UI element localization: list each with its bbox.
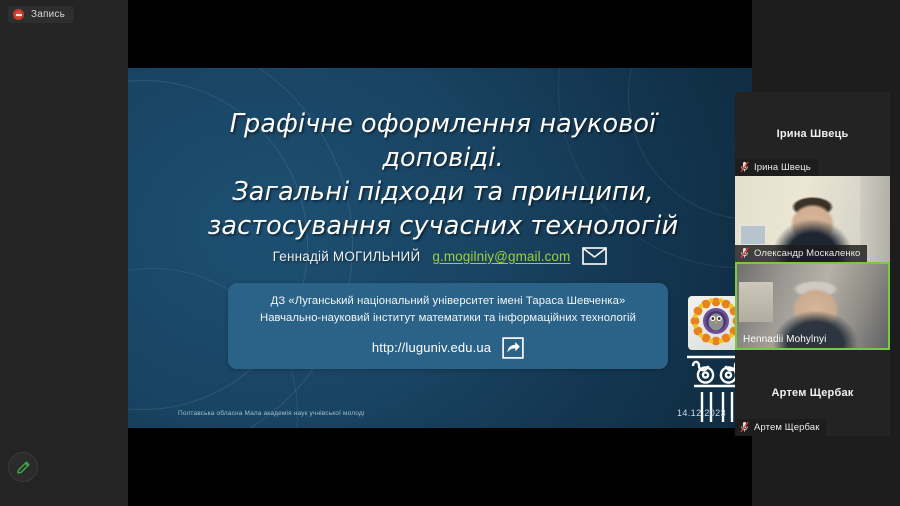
envelope-icon <box>582 247 607 265</box>
participant-tile-active-speaker[interactable]: Hennadii Mohylnyi <box>735 262 890 350</box>
presentation-slide: Графічне оформлення наукової доповіді. З… <box>128 68 752 428</box>
institution-lines: ДЗ «Луганський національний університет … <box>260 293 636 327</box>
slide-footer-date: 14.12.2023 <box>677 408 726 418</box>
mic-muted-icon <box>740 421 749 433</box>
mic-muted-icon <box>740 247 749 259</box>
slide-title-line-3: застосування сучасних технологій <box>170 210 716 244</box>
website-url[interactable]: http://luguniv.edu.ua <box>372 340 491 355</box>
participant-nametag: Олександр Москаленко <box>735 245 867 262</box>
pencil-icon <box>15 459 32 476</box>
participant-tile[interactable]: Олександр Москаленко <box>735 176 890 262</box>
recording-label: Запись <box>31 9 65 20</box>
slide-footer-organization: Полтавська обласна Мала академія наук уч… <box>178 410 364 417</box>
annotate-button[interactable] <box>8 452 38 482</box>
slide-title-line-1: Графічне оформлення наукової доповіді. <box>170 108 716 176</box>
participant-nametag: Ірина Швець <box>735 159 818 176</box>
participant-nametag: Hennadii Mohylnyi <box>737 332 833 348</box>
participant-nametag-text: Hennadii Mohylnyi <box>743 334 826 345</box>
website-row: http://luguniv.edu.ua <box>372 337 524 359</box>
participant-tile[interactable]: Артем Щербак Артем Щербак <box>735 350 890 436</box>
meeting-window: Запись Графічне оформлення наукової допо… <box>0 0 900 506</box>
slide-title-line-2: Загальні підходи та принципи, <box>170 176 716 210</box>
slide-title: Графічне оформлення наукової доповіді. З… <box>170 108 716 244</box>
author-name: Геннадій МОГИЛЬНИЙ <box>273 249 421 264</box>
mic-muted-icon <box>740 161 749 173</box>
record-icon <box>13 9 24 20</box>
institution-line-1: ДЗ «Луганський національний університет … <box>260 293 636 310</box>
participant-nametag: Артем Щербак <box>735 419 826 436</box>
external-link-icon <box>502 337 524 359</box>
shared-screen-area[interactable]: Графічне оформлення наукової доповіді. З… <box>128 0 752 506</box>
author-row: Геннадій МОГИЛЬНИЙ g.mogilniy@gmail.com <box>128 247 752 265</box>
participant-panel: Ірина Швець Ірина Швець <box>735 92 890 436</box>
participant-tile[interactable]: Ірина Швець Ірина Швець <box>735 92 890 176</box>
institution-info-box: ДЗ «Луганський національний університет … <box>228 283 668 369</box>
left-toolbar: Запись <box>0 0 128 506</box>
participant-nametag-text: Артем Щербак <box>754 422 819 433</box>
institution-line-2: Навчально-науковий інститут математики т… <box>260 310 636 327</box>
participant-nametag-text: Олександр Москаленко <box>754 248 860 259</box>
author-email-link[interactable]: g.mogilniy@gmail.com <box>432 249 570 264</box>
participant-nametag-text: Ірина Швець <box>754 162 811 173</box>
recording-indicator[interactable]: Запись <box>8 6 74 23</box>
